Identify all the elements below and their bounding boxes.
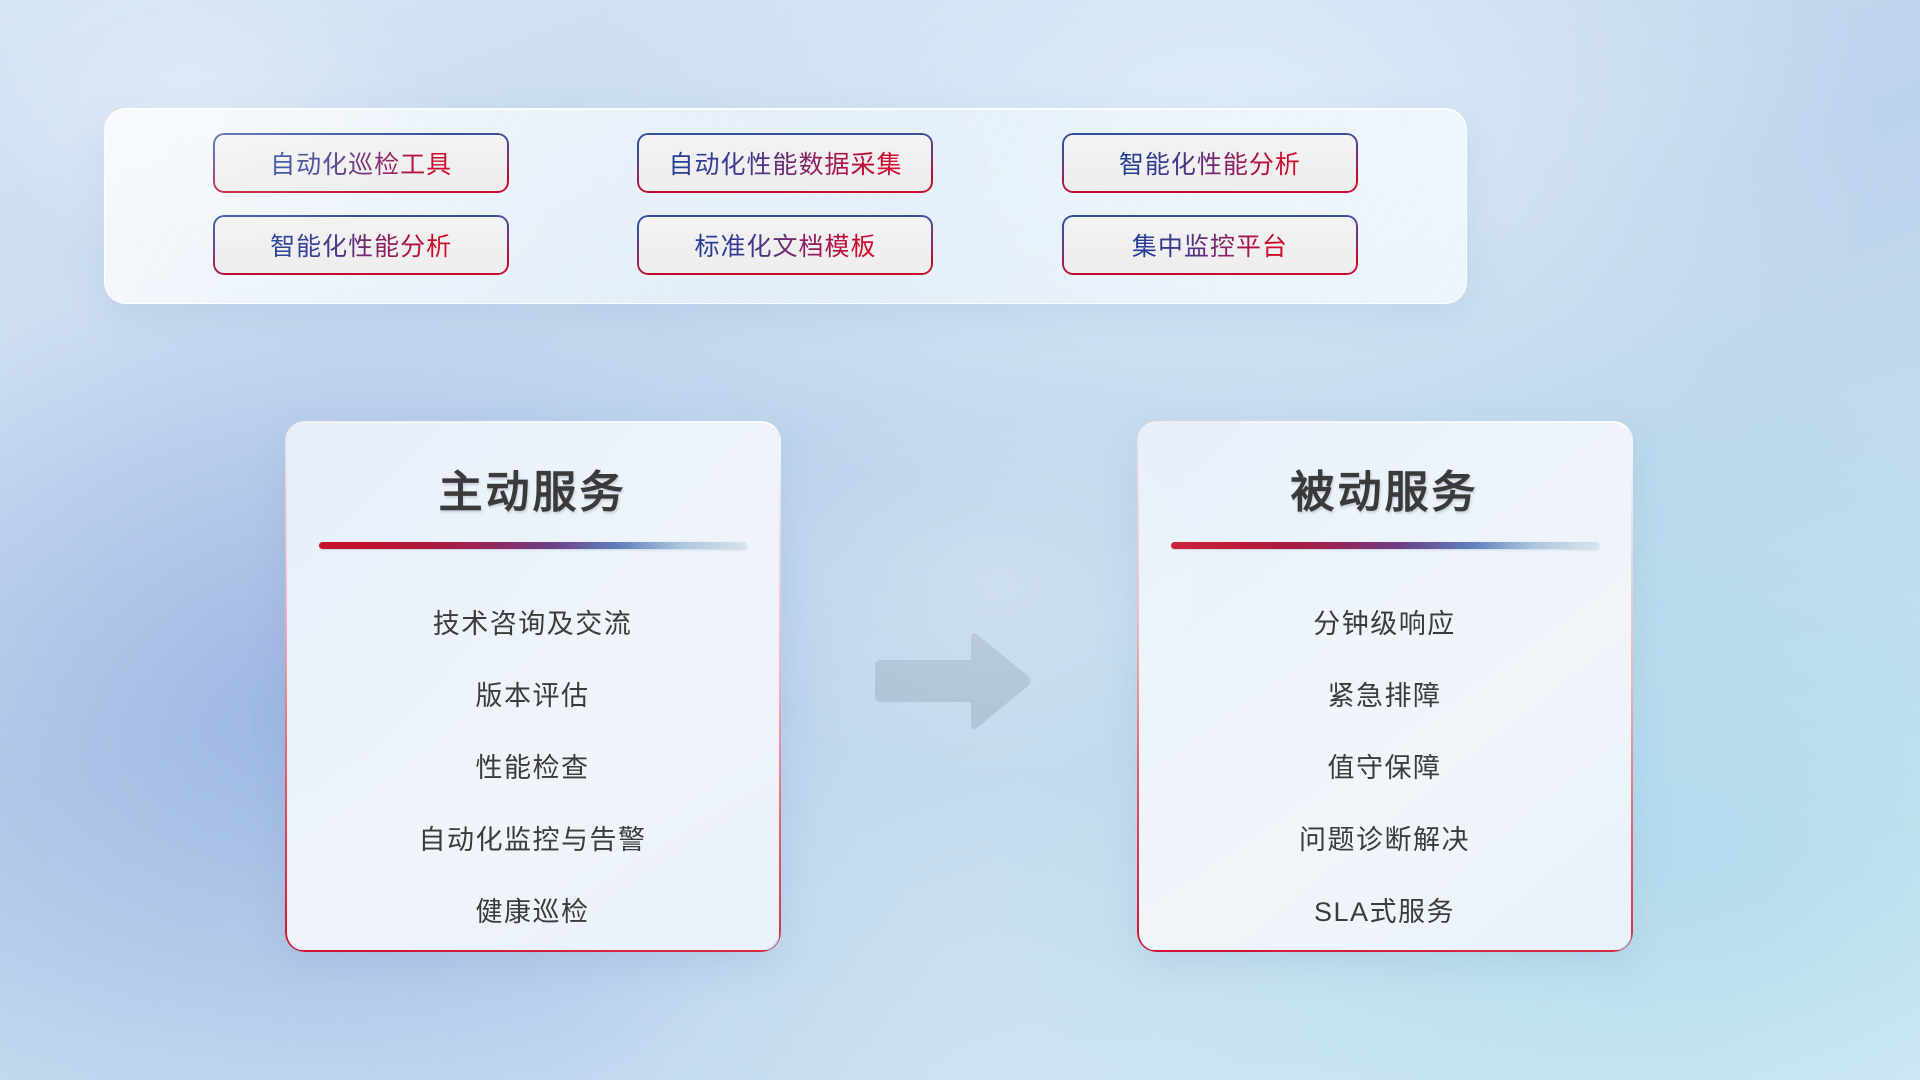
capability-tag[interactable]: 集中监控平台 — [1064, 217, 1356, 273]
capability-tag-label: 标准化文档模板 — [694, 227, 876, 263]
capability-tag-label: 自动化性能数据采集 — [668, 145, 902, 181]
capability-panel: 自动化巡检工具 自动化性能数据采集 智能化性能分析 智能化性能分析 标准化文档模… — [104, 108, 1467, 304]
service-item: SLA式服务 — [1314, 873, 1455, 945]
service-item-list: 分钟级响应 紧急排障 值守保障 问题诊断解决 SLA式服务 — [1138, 585, 1631, 945]
diagram-canvas: 自动化巡检工具 自动化性能数据采集 智能化性能分析 智能化性能分析 标准化文档模… — [0, 0, 1920, 1080]
service-item: 技术咨询及交流 — [433, 585, 633, 657]
service-item-list: 技术咨询及交流 版本评估 性能检查 自动化监控与告警 健康巡检 — [286, 585, 779, 945]
capability-tag-label: 智能化性能分析 — [270, 227, 452, 263]
service-item: 值守保障 — [1328, 729, 1442, 801]
service-card-proactive: 主动服务 技术咨询及交流 版本评估 性能检查 自动化监控与告警 健康巡检 — [286, 422, 779, 950]
service-item: 自动化监控与告警 — [419, 801, 647, 873]
service-item: 性能检查 — [476, 729, 590, 801]
service-item: 紧急排障 — [1328, 657, 1442, 729]
capability-tag[interactable]: 智能化性能分析 — [1064, 135, 1356, 191]
card-title: 被动服务 — [1138, 456, 1631, 520]
capability-tag[interactable]: 自动化性能数据采集 — [639, 135, 931, 191]
capability-tag[interactable]: 智能化性能分析 — [215, 217, 507, 273]
service-item: 健康巡检 — [476, 873, 590, 945]
capability-tag-label: 智能化性能分析 — [1119, 145, 1301, 181]
service-item: 版本评估 — [476, 657, 590, 729]
card-title: 主动服务 — [286, 456, 779, 520]
arrow-right-icon — [875, 630, 1033, 732]
capability-tag[interactable]: 标准化文档模板 — [639, 217, 931, 273]
capability-tag-label: 自动化巡检工具 — [270, 145, 452, 181]
capability-tag[interactable]: 自动化巡检工具 — [215, 135, 507, 191]
card-divider — [319, 542, 747, 549]
card-divider — [1171, 542, 1599, 549]
service-item: 分钟级响应 — [1313, 585, 1456, 657]
capability-tag-label: 集中监控平台 — [1132, 227, 1288, 263]
service-item: 问题诊断解决 — [1299, 801, 1470, 873]
service-card-reactive: 被动服务 分钟级响应 紧急排障 值守保障 问题诊断解决 SLA式服务 — [1138, 422, 1631, 950]
